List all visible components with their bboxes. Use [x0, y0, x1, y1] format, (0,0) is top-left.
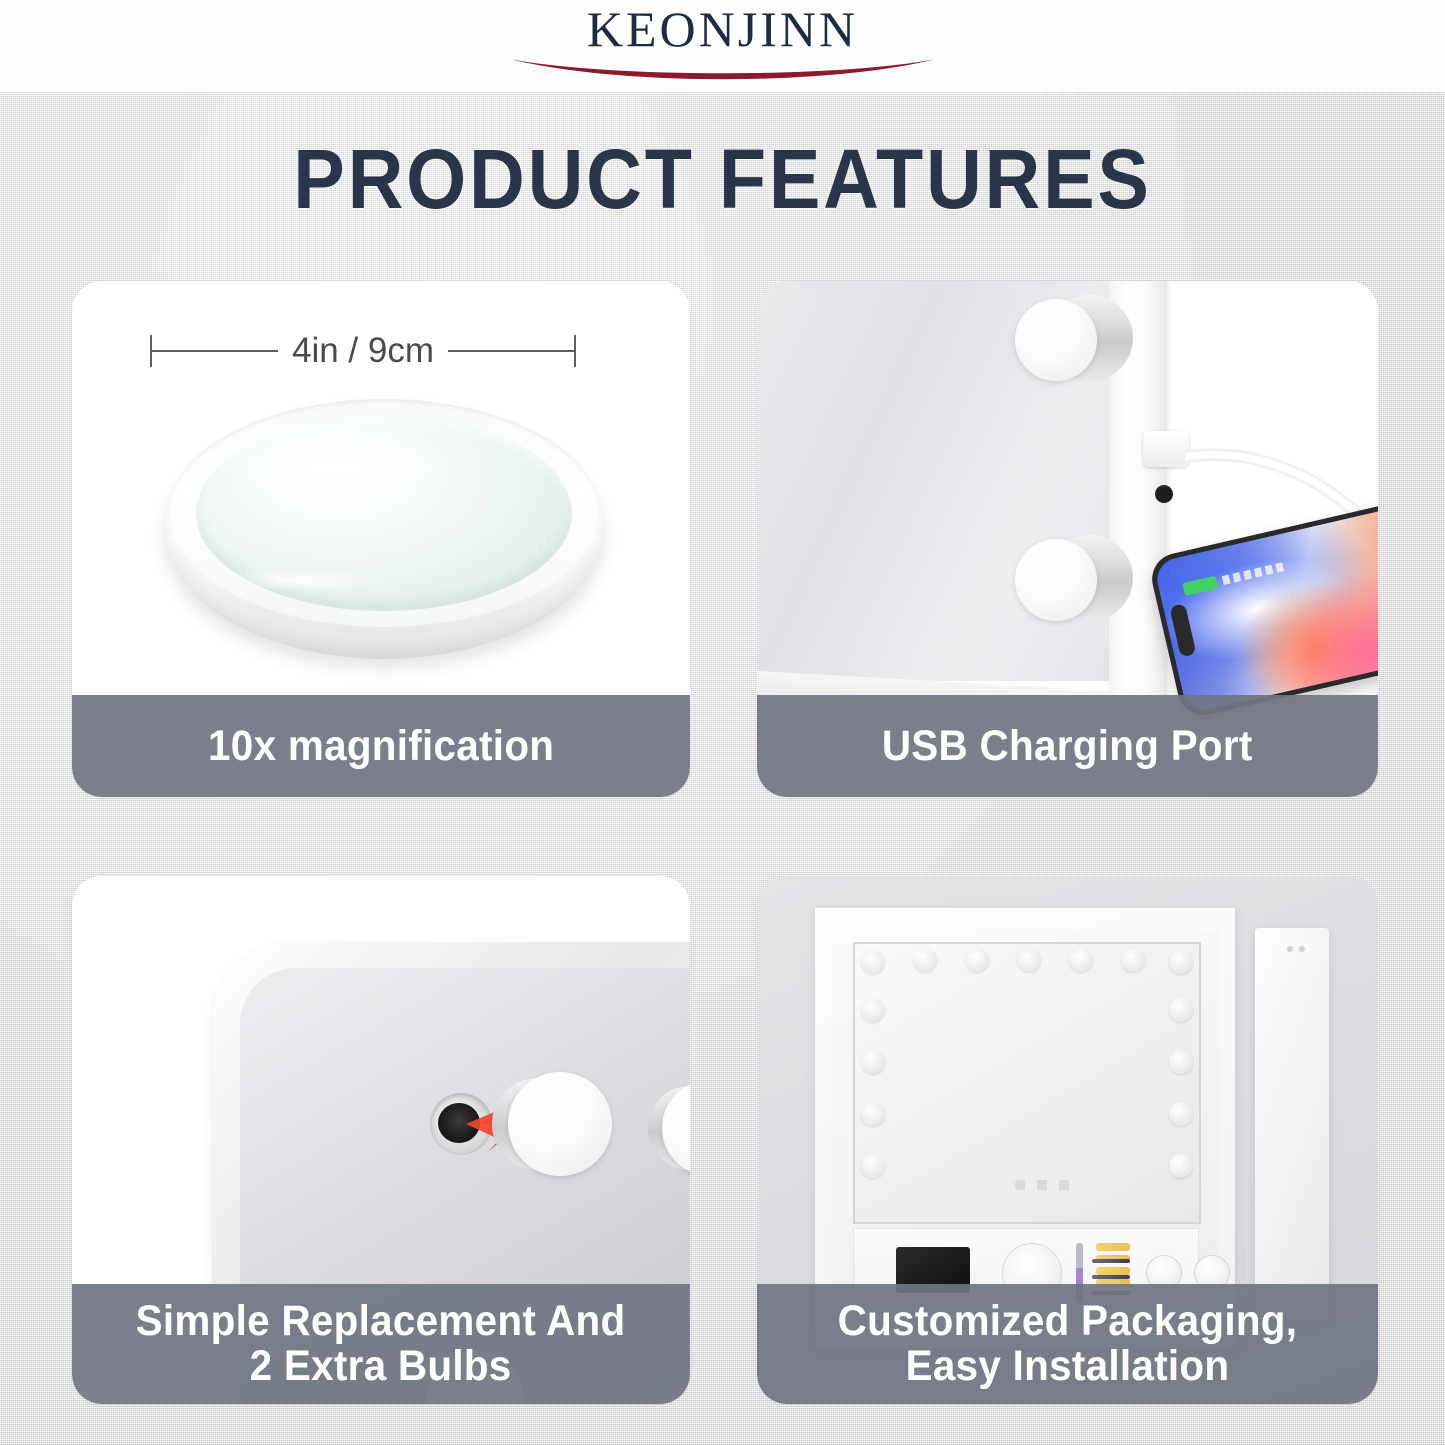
- feature-card-packaging[interactable]: Customized Packaging, Easy Installation: [757, 876, 1378, 1404]
- led-bulb-a: [508, 1072, 612, 1176]
- lens-gloss-highlight: [234, 433, 444, 503]
- brand-logo-text: KEONJINN: [587, 4, 858, 54]
- packaged-bulb: [861, 1050, 885, 1074]
- feature-card-magnification[interactable]: 4in / 9cm 10x magnification: [72, 281, 690, 797]
- packaged-bulb: [1169, 1154, 1193, 1178]
- feature-card-usb-charging[interactable]: USB Charging Port: [757, 281, 1378, 797]
- feature-card-bulb-replacement[interactable]: Simple Replacement And 2 Extra Bulbs: [72, 876, 690, 1404]
- led-bulb-top: [1015, 299, 1097, 381]
- caption-line-2: Easy Installation: [838, 1344, 1298, 1389]
- caption-line-1: 10x magnification: [208, 724, 554, 769]
- dimension-cap-right: [574, 335, 576, 367]
- wall-anchor: [1096, 1267, 1130, 1275]
- page-title: PRODUCT FEATURES: [58, 137, 1387, 221]
- packaged-bulb: [861, 1102, 885, 1126]
- brand-swoosh-icon: [508, 55, 938, 89]
- dimension-line-left: [152, 350, 278, 352]
- caption-line-1: USB Charging Port: [882, 724, 1253, 769]
- packaged-bulb: [1017, 948, 1041, 972]
- screw: [1092, 1259, 1130, 1263]
- packaged-bulb: [965, 948, 989, 972]
- card-caption-bulb-replacement: Simple Replacement And 2 Extra Bulbs: [72, 1284, 690, 1404]
- packaged-bulb: [1069, 948, 1093, 972]
- caption-line-1: Customized Packaging,: [838, 1299, 1298, 1344]
- stand-dot: [1299, 946, 1305, 952]
- card-caption-magnification: 10x magnification: [72, 695, 690, 797]
- lens-edge-highlight: [216, 569, 386, 591]
- caption-line-1: Simple Replacement And: [136, 1299, 626, 1344]
- packaged-bulb: [1169, 1102, 1193, 1126]
- card-caption-packaging: Customized Packaging, Easy Installation: [757, 1284, 1378, 1404]
- stand-dot: [1287, 946, 1293, 952]
- packaged-bulb: [861, 1154, 885, 1178]
- aux-port-icon: [1155, 485, 1173, 503]
- screw: [1092, 1275, 1130, 1279]
- packaged-bulb: [1121, 948, 1145, 972]
- dimension-label: 4in / 9cm: [278, 331, 448, 371]
- packaged-mirror: [853, 942, 1201, 1224]
- packaged-bulb: [1169, 998, 1193, 1022]
- led-bulb-bottom: [1015, 539, 1097, 621]
- packaging-box: [815, 908, 1235, 1348]
- brand-header: KEONJINN: [0, 0, 1445, 92]
- dimension-indicator: 4in / 9cm: [150, 325, 610, 377]
- dimension-line-right: [448, 350, 574, 352]
- packaged-bulb: [861, 998, 885, 1022]
- foam-insert: [831, 930, 1219, 1326]
- card-caption-usb-charging: USB Charging Port: [757, 695, 1378, 797]
- wall-anchor: [1096, 1243, 1130, 1251]
- status-bar: [1222, 562, 1286, 585]
- packaged-bulb: [861, 950, 885, 974]
- packaged-bulb: [1169, 1050, 1193, 1074]
- caption-line-2: 2 Extra Bulbs: [136, 1344, 626, 1389]
- smartphone-notch: [1169, 603, 1196, 657]
- touch-control-panel: [1015, 1180, 1081, 1190]
- packaged-bulb: [913, 948, 937, 972]
- packaged-bulb: [1169, 950, 1193, 974]
- mirror-stand-part: [1255, 928, 1329, 1320]
- usb-plug-icon: [1143, 431, 1189, 467]
- magnifier-lens-icon: [164, 399, 604, 659]
- battery-indicator-icon: [1182, 576, 1218, 596]
